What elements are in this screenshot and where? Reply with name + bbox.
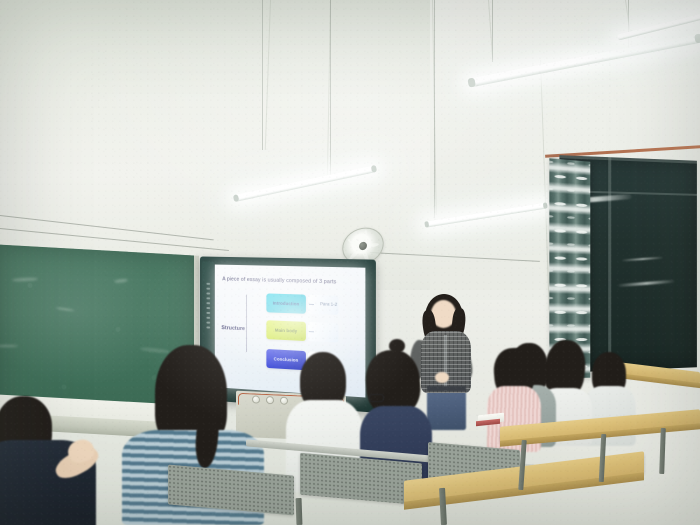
slide-box-label: Conclusion: [274, 356, 299, 362]
presenter-right-hand: [435, 372, 449, 383]
cabinet-knob-icon[interactable]: [252, 395, 260, 403]
bezel-button-icon[interactable]: [206, 326, 210, 328]
light-drop-rod: [492, 0, 493, 62]
bezel-button-icon[interactable]: [206, 283, 210, 285]
slide-structure-label: Structure: [221, 325, 245, 332]
light-drop-rod: [434, 0, 435, 218]
cabinet-knob-icon[interactable]: [280, 397, 288, 405]
student-glasses-icon: [369, 394, 384, 402]
window-light-reflection: [618, 280, 674, 287]
presenter-belt: [427, 386, 466, 391]
classroom-photo: A piece of essay is usually composed of …: [0, 0, 700, 525]
slide-box-label: Introduction: [273, 301, 300, 307]
slide-box-introduction: Introduction: [266, 293, 306, 313]
slide-box-conclusion: Conclusion: [266, 349, 306, 370]
bezel-button-icon[interactable]: [206, 312, 210, 314]
presenter-shirt: [421, 331, 471, 393]
cabinet-knob-icon[interactable]: [266, 396, 274, 404]
fan-hub: [359, 241, 367, 250]
seat-leg: [296, 498, 303, 525]
bezel-button-icon[interactable]: [206, 322, 210, 324]
bezel-button-icon[interactable]: [206, 288, 210, 290]
light-drop-rod: [262, 0, 263, 150]
light-drop-rod: [330, 0, 331, 178]
presenter-trousers: [427, 388, 466, 430]
window-light-reflection: [622, 257, 663, 262]
slide-box-mainbody: Main body: [266, 320, 306, 341]
slide-title: A piece of essay is usually composed of …: [222, 276, 361, 286]
bezel-button-icon[interactable]: [206, 292, 210, 294]
slide-note-introduction: Para 1-2: [320, 301, 337, 307]
slide-dash-icon: [309, 304, 314, 305]
light-drop-rod: [628, 0, 629, 52]
bezel-button-icon[interactable]: [206, 297, 210, 299]
bezel-button-icon[interactable]: [206, 302, 210, 304]
window-mullion: [608, 157, 611, 371]
slide-dash-icon: [309, 331, 314, 332]
slide-box-label: Main body: [275, 328, 297, 334]
slide-connector-line: [246, 295, 247, 352]
bezel-button-icon[interactable]: [206, 317, 210, 319]
bezel-button-icon[interactable]: [206, 307, 210, 309]
